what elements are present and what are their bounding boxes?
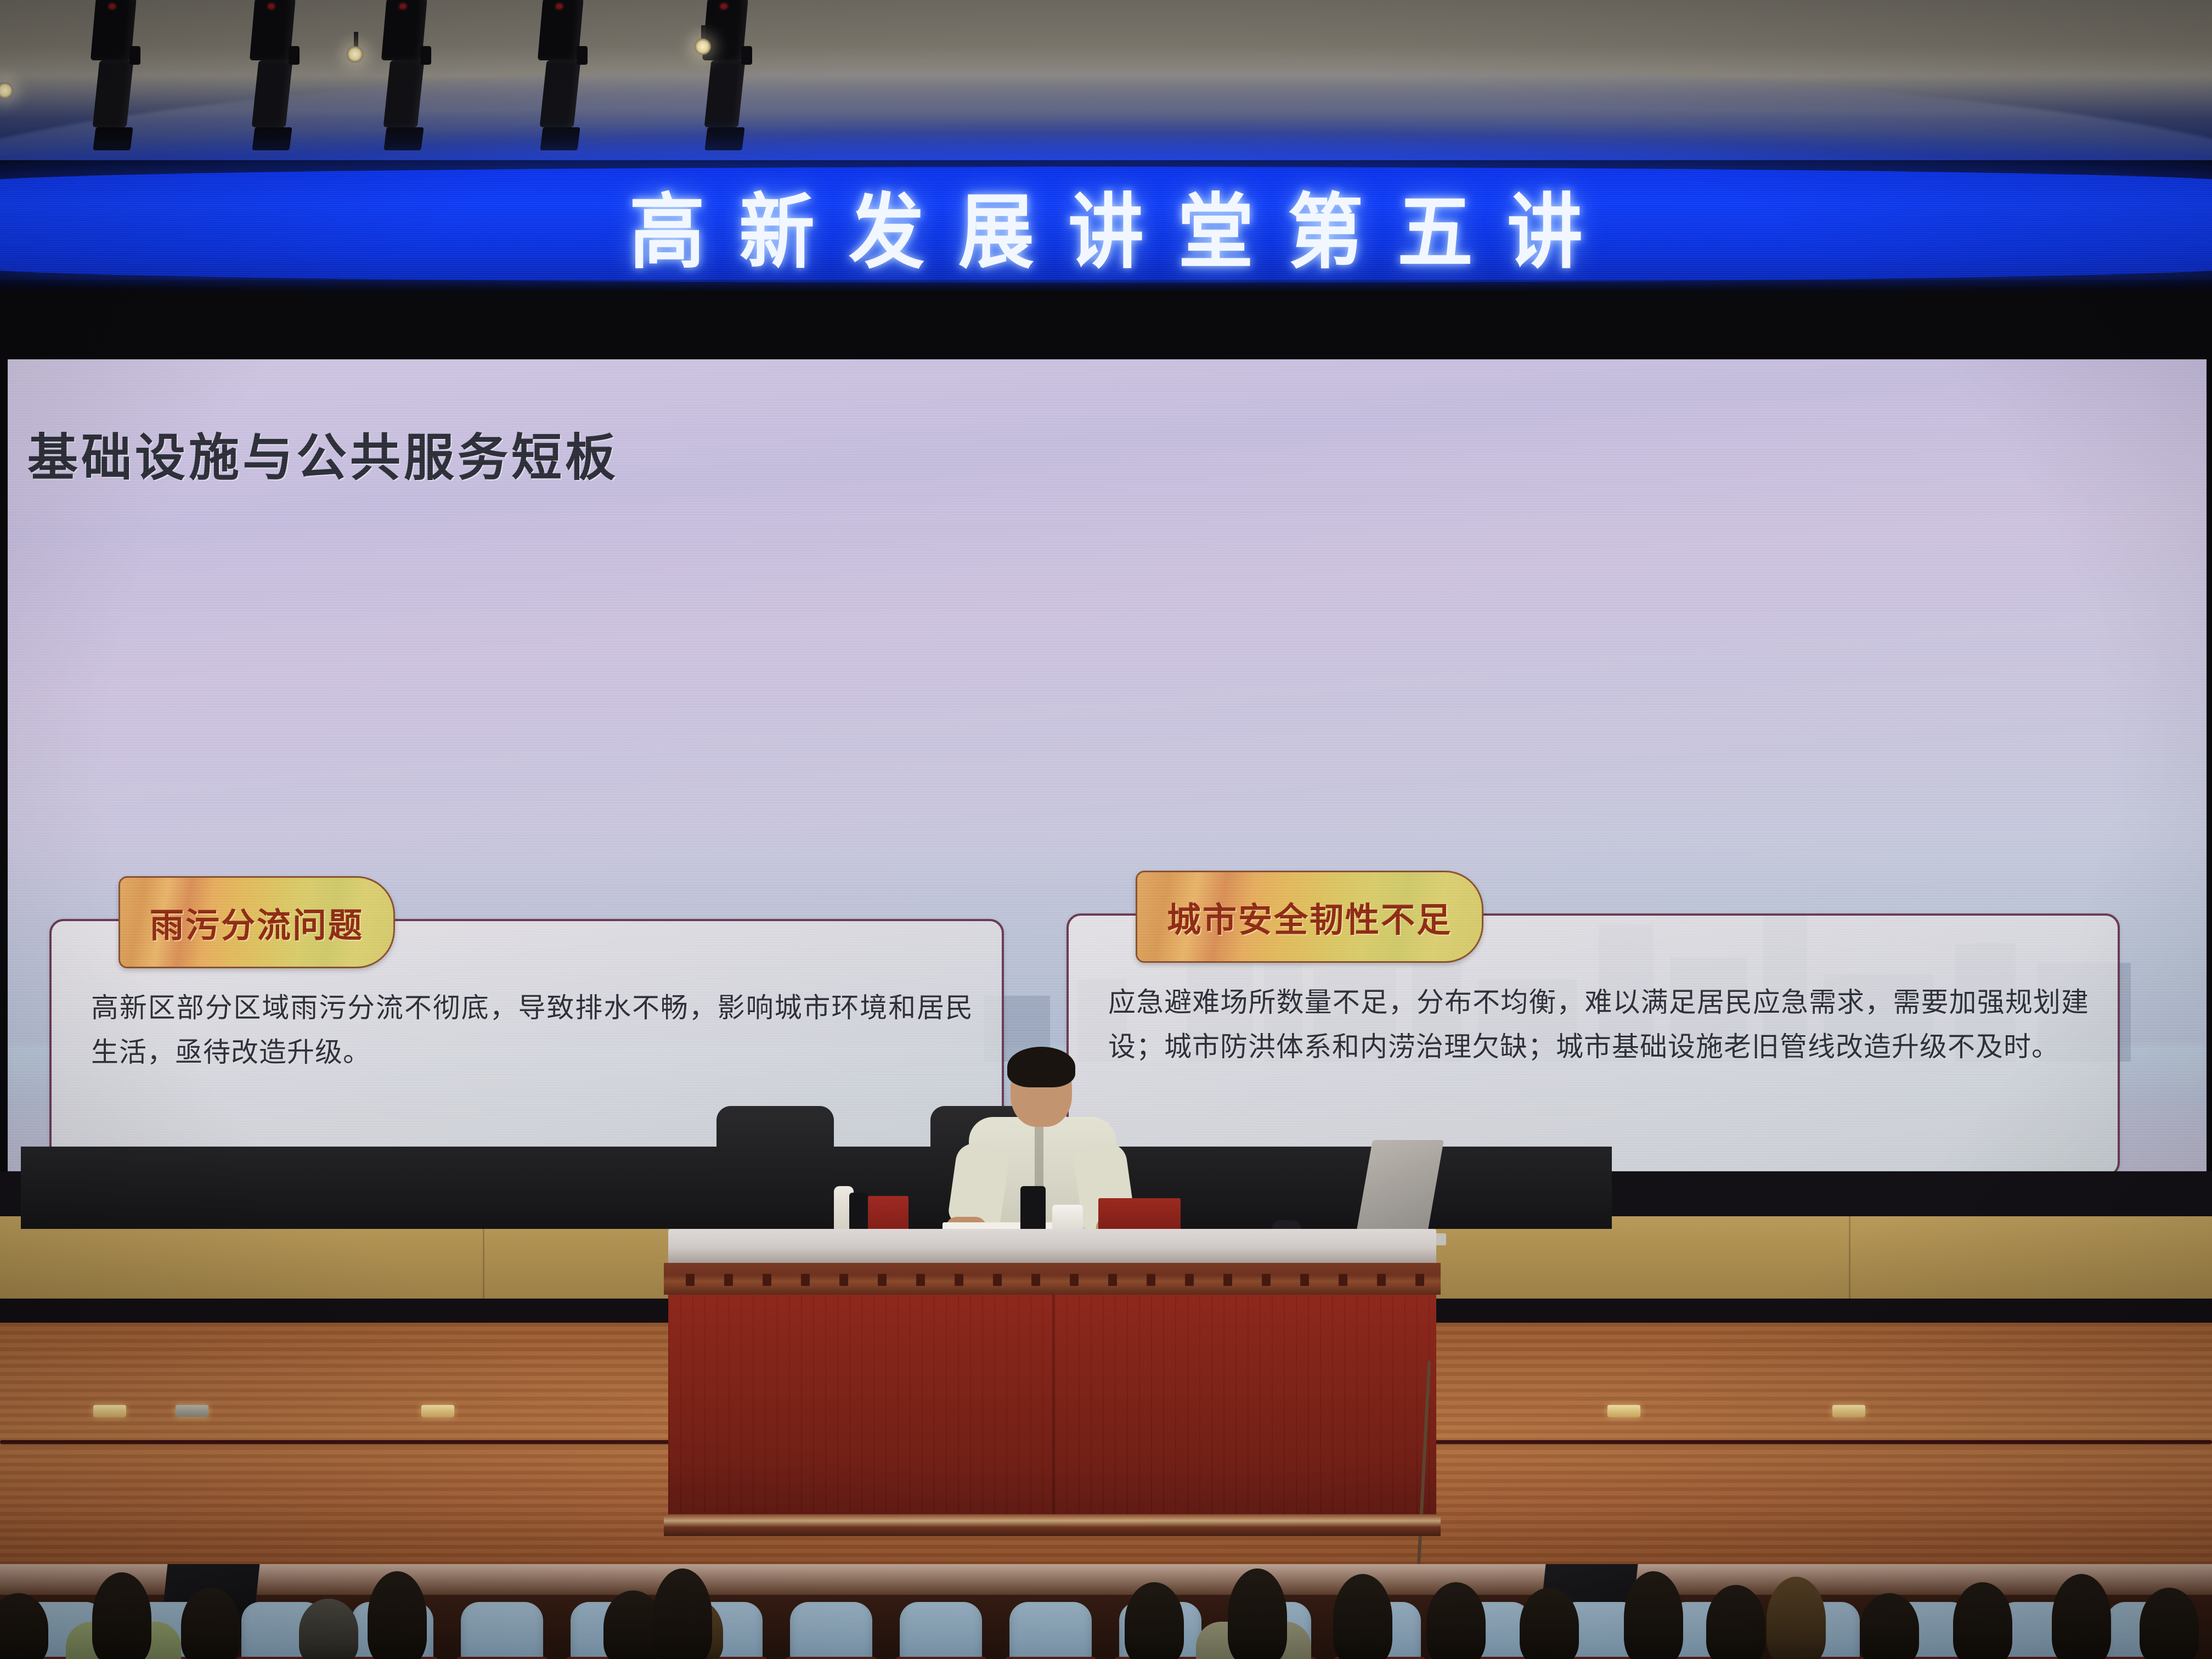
- card-heading-text: 雨污分流问题: [150, 898, 364, 947]
- audience-person: [368, 1571, 427, 1659]
- ceiling-downlight-icon: [695, 38, 711, 55]
- audience-person: [1520, 1588, 1579, 1659]
- page-title: 基础设施与公共服务短板: [27, 417, 619, 490]
- ceiling-downlight-icon: [0, 82, 13, 99]
- audience-person: [1125, 1582, 1184, 1659]
- presentation-slide: 基础设施与公共服务短板 雨污分流问题 高新区部分区域雨污分流不彻底，导致排水不畅…: [8, 359, 2207, 1171]
- audience-person: [653, 1568, 712, 1659]
- audience-person: [2140, 1588, 2199, 1659]
- auditorium-scene: 高新发展讲堂第五讲 基础设施与公共服务短板 雨污分流问题: [0, 0, 2212, 1659]
- podium-decorative-trim: [664, 1263, 1441, 1295]
- audience-person: [181, 1588, 240, 1659]
- audience-person: [1426, 1582, 1486, 1659]
- led-banner-text: 高新发展讲堂第五讲: [595, 167, 1617, 283]
- podium-table: [668, 1229, 1436, 1542]
- ceiling: [0, 0, 2212, 165]
- audience-person: [1228, 1568, 1287, 1659]
- audience-person: [2052, 1574, 2111, 1659]
- audience-seat: [790, 1602, 872, 1659]
- audience-person: [299, 1599, 358, 1659]
- audience-person: [1706, 1585, 1765, 1659]
- stage-spotlight-icon: [705, 0, 748, 150]
- ceiling-downlight-icon: [347, 46, 363, 63]
- slide-card-rain-sewage: 雨污分流问题 高新区部分区域雨污分流不彻底，导致排水不畅，影响城市环境和居民生活…: [49, 919, 1004, 1171]
- podium-front-panel: [668, 1295, 1436, 1514]
- audience-seat: [900, 1602, 982, 1659]
- card-body-text: 高新区部分区域雨污分流不彻底，导致排水不畅，影响城市环境和居民生活，亟待改造升级…: [91, 986, 973, 1075]
- led-banner: 高新发展讲堂第五讲: [0, 160, 2212, 292]
- stage-spotlight-icon: [93, 0, 136, 150]
- stage-spotlight-icon: [384, 0, 427, 150]
- audience-person: [1860, 1593, 1919, 1659]
- stage-floor-light-icon: [176, 1405, 208, 1417]
- audience-person: [1953, 1582, 2012, 1659]
- card-heading-ribbon: 雨污分流问题: [119, 876, 395, 968]
- audience-rear-wall: [0, 1564, 2212, 1595]
- audience-person: [1333, 1574, 1392, 1659]
- stage-floor-light-icon: [93, 1405, 126, 1417]
- stage-spotlight-icon: [540, 0, 583, 150]
- card-paragraph: 应急避难场所数量不足，分布不均衡，难以满足居民应急需求，需要加强规划建设；城市防…: [1108, 980, 2089, 1069]
- stage-floor-light-icon: [421, 1405, 454, 1417]
- card-body-text: 应急避难场所数量不足，分布不均衡，难以满足居民应急需求，需要加强规划建设；城市防…: [1108, 980, 2089, 1069]
- stage-floor-light-icon: [1832, 1405, 1865, 1417]
- podium-tabletop: [668, 1229, 1436, 1263]
- led-banner-screen: 高新发展讲堂第五讲: [0, 167, 2212, 283]
- audience-seat: [461, 1602, 543, 1659]
- audience-area: [0, 1564, 2212, 1659]
- chair-left: [716, 1106, 834, 1229]
- podium-base-molding: [664, 1514, 1441, 1536]
- audience-seat: [1009, 1602, 1092, 1659]
- audience-person: [1767, 1577, 1826, 1659]
- audience-person: [1624, 1571, 1683, 1659]
- card-paragraph: 高新区部分区域雨污分流不彻底，导致排水不畅，影响城市环境和居民生活，亟待改造升级…: [91, 986, 973, 1075]
- stage-spotlight-icon: [252, 0, 295, 150]
- stage-floor-light-icon: [1607, 1405, 1640, 1417]
- audience-person: [92, 1572, 151, 1659]
- card-heading-text: 城市安全韧性不足: [1167, 892, 1452, 941]
- slide-card-urban-safety: 城市安全韧性不足 应急避难场所数量不足，分布不均衡，难以满足居民应急需求，需要加…: [1066, 913, 2120, 1171]
- card-heading-ribbon: 城市安全韧性不足: [1136, 871, 1483, 963]
